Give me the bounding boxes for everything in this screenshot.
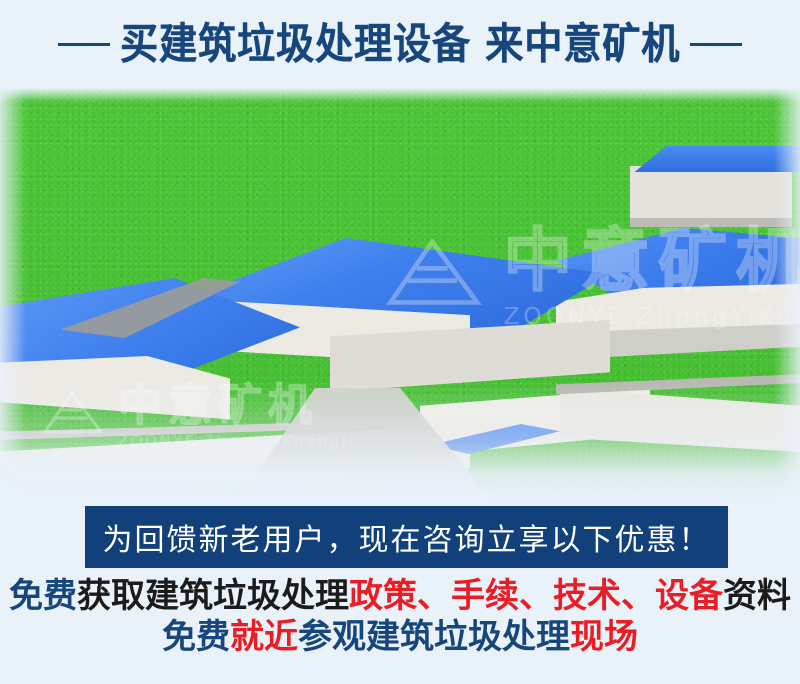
offer-line-2: 免费就近参观建筑垃圾处理现场 <box>0 617 800 658</box>
offer-segment: 免费 <box>9 576 77 616</box>
offer-segment: 现场 <box>570 617 638 657</box>
hero-bottom-fade <box>0 380 800 500</box>
promo-banner-text: 为回馈新老用户，现在咨询立享以下优惠！ <box>103 515 711 559</box>
offer-segment: 就近 <box>230 617 298 657</box>
promo-banner: 为回馈新老用户，现在咨询立享以下优惠！ <box>85 506 728 568</box>
offer-segment: 参观建筑垃圾处理 <box>298 617 570 657</box>
hero-top-fade <box>0 88 800 102</box>
page-title: 买建筑垃圾处理设备 来中意矿机 <box>120 23 680 66</box>
factory-hero-image: 中意矿机 ZOONYE ZhongYiKuangJi 中意矿机 ZOONYE Z… <box>0 88 800 500</box>
offer-segment: 获取建筑垃圾处理 <box>77 576 349 616</box>
offer-segment: 资料 <box>723 576 791 616</box>
header-rule-left <box>58 43 110 46</box>
offer-segment: 免费 <box>162 617 230 657</box>
offer-line-1: 免费获取建筑垃圾处理政策、手续、技术、设备资料 <box>0 576 800 617</box>
offer-list: 免费获取建筑垃圾处理政策、手续、技术、设备资料 免费就近参观建筑垃圾处理现场 <box>0 576 800 659</box>
page-header: 买建筑垃圾处理设备 来中意矿机 <box>0 0 800 88</box>
header-rule-right <box>690 43 742 46</box>
offer-segment: 政策、手续、技术、设备 <box>349 576 723 616</box>
